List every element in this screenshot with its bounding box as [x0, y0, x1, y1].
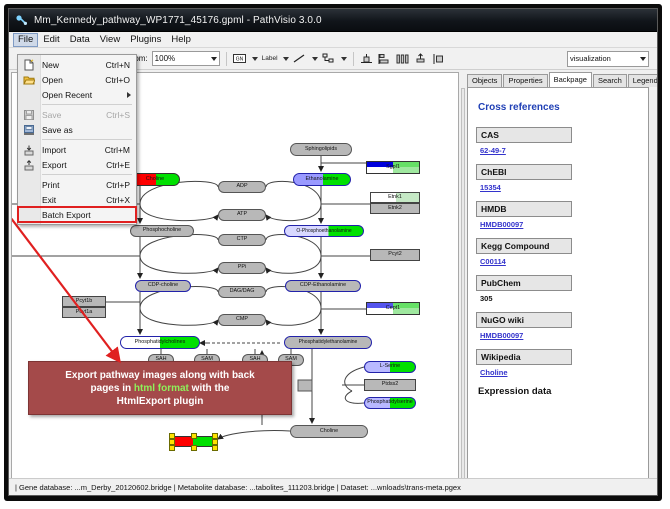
menu-data[interactable]: Data	[65, 33, 95, 47]
node-label: ATP	[237, 212, 247, 217]
align-left-icon[interactable]	[378, 52, 392, 66]
datanode-dropdown-icon[interactable]	[252, 57, 258, 61]
pathvisio-window: Mm_Kennedy_pathway_WP1771_45176.gpml - P…	[8, 8, 658, 496]
node-label: PPi	[238, 265, 246, 270]
interaction-dropdown-icon[interactable]	[341, 57, 347, 61]
line-icon[interactable]	[293, 52, 307, 66]
screenshot-root: Mm_Kennedy_pathway_WP1771_45176.gpml - P…	[0, 0, 670, 509]
chevron-down-icon-2	[640, 57, 646, 61]
node-ethanolamine[interactable]: Ethanolamine	[293, 173, 351, 186]
cross-references-heading: Cross references	[478, 102, 640, 113]
sidebar-scroll-track[interactable]	[461, 88, 465, 496]
node-sphingolipids[interactable]: Sphingolipids	[290, 143, 352, 156]
node-sgpl1[interactable]: Sgpl1	[366, 161, 420, 174]
zoom-value: 100%	[155, 54, 175, 63]
chevron-down-icon	[211, 57, 217, 61]
save-disk-icon	[22, 108, 35, 121]
node-atp[interactable]: ATP	[218, 209, 266, 221]
menu-file[interactable]: File	[13, 33, 38, 47]
xref-chebi-value[interactable]: 15354	[480, 183, 640, 192]
toolbar-separator	[226, 52, 227, 66]
menu-item-exit[interactable]: Exit Ctrl+X	[18, 192, 136, 207]
node-adp[interactable]: ADP	[218, 181, 266, 193]
menu-item-batch-export[interactable]: Batch Export	[18, 207, 136, 222]
xref-wikipedia-label: Wikipedia	[476, 349, 572, 365]
status-bar: | Gene database: ...m_Derby_20120602.bri…	[9, 478, 657, 495]
node-cept1[interactable]: Cept1	[366, 302, 420, 315]
node-label: DAG/DAG	[230, 289, 255, 294]
xref-pubchem-value: 305	[480, 294, 640, 303]
open-folder-icon	[22, 73, 35, 86]
node-label: Phosphatidylcholines	[135, 340, 186, 345]
label-dropdown-icon[interactable]	[283, 57, 289, 61]
node-label: ADP	[236, 184, 247, 189]
menu-help[interactable]: Help	[166, 33, 196, 47]
menu-edit[interactable]: Edit	[38, 33, 64, 47]
callout-line1: Export pathway images along with back	[65, 370, 255, 381]
node-label: L-Serine	[380, 364, 400, 369]
file-menu-dropdown[interactable]: New Ctrl+N Open Ctrl+O Open Recent Save	[17, 54, 137, 225]
node-ctp[interactable]: CTP	[218, 234, 266, 246]
node-label: Cept1	[386, 306, 400, 311]
xref-wikipedia-value[interactable]: Choline	[480, 368, 640, 377]
node-phosphocholine[interactable]: Phosphocholine	[130, 225, 194, 237]
menu-label: Save	[42, 110, 106, 120]
menu-item-print[interactable]: Print Ctrl+P	[18, 177, 136, 192]
save-as-icon	[22, 123, 35, 136]
datanode-icon[interactable]: GN	[233, 52, 247, 66]
node-label: CTP	[237, 237, 248, 242]
selection-handle-sw[interactable]	[169, 445, 175, 451]
menu-bar[interactable]: File Edit Data View Plugins Help	[9, 32, 657, 48]
menu-plugins[interactable]: Plugins	[125, 33, 166, 47]
node-pcyt1a[interactable]: Pcyt1a	[62, 307, 106, 318]
node-phosphatidylethanolamine[interactable]: Phosphatidylethanolamine	[284, 336, 372, 349]
xref-link[interactable]: HMDB00097	[480, 331, 523, 340]
pathvisio-icon	[15, 14, 28, 27]
xref-hmdb-label: HMDB	[476, 201, 572, 217]
new-file-icon	[22, 58, 35, 71]
selection-handle-n[interactable]	[191, 433, 197, 439]
window-title: Mm_Kennedy_pathway_WP1771_45176.gpml - P…	[34, 15, 322, 26]
node-cmp[interactable]: CMP	[218, 314, 266, 326]
menu-label: Open Recent	[42, 90, 136, 100]
node-pcyt2[interactable]: Pcyt2	[370, 249, 420, 261]
import-icon	[22, 143, 35, 156]
node-o-phosphoethanolamine[interactable]: O-Phosphoethanolamine	[284, 225, 364, 237]
menu-label: Import	[42, 145, 105, 155]
visualization-value: visualization	[570, 54, 611, 63]
label-icon[interactable]: Label	[262, 55, 278, 62]
menu-label: Exit	[42, 195, 106, 205]
menu-accel: Ctrl+P	[106, 180, 136, 190]
xref-nugo-value[interactable]: HMDB00097	[480, 331, 640, 340]
selection-handle-se[interactable]	[212, 445, 218, 451]
menu-item-import[interactable]: Import Ctrl+M	[18, 142, 136, 157]
xref-cas-value[interactable]: 62-49-7	[480, 146, 640, 155]
export-icon	[22, 158, 35, 171]
node-label: Phosphatidylserine	[367, 400, 413, 405]
xref-link[interactable]: 15354	[480, 183, 501, 192]
node-l-serine[interactable]: L-Serine	[364, 361, 416, 373]
node-label: CDP-choline	[148, 283, 178, 288]
menu-accel: Ctrl+E	[106, 160, 136, 170]
xref-kegg-value[interactable]: C00114	[480, 257, 640, 266]
sidebar-tabs[interactable]: Objects Properties Backpage Search Legen…	[459, 72, 655, 87]
callout-line2-b: with the	[189, 383, 230, 394]
menu-label: Export	[42, 160, 106, 170]
xref-hmdb-value[interactable]: HMDB00097	[480, 220, 640, 229]
xref-link[interactable]: HMDB00097	[480, 220, 523, 229]
node-label: Etnk2	[388, 206, 402, 211]
menu-separator-2	[42, 139, 132, 140]
selection-handle-s[interactable]	[191, 445, 197, 451]
menu-label: New	[42, 60, 106, 70]
node-label: Sgpl1	[386, 165, 400, 170]
xref-kegg-label: Kegg Compound	[476, 238, 572, 254]
submenu-arrow-icon	[127, 92, 131, 98]
node-choline[interactable]: Choline	[130, 173, 180, 186]
toolbar-separator-2	[353, 52, 354, 66]
menu-item-open[interactable]: Open Ctrl+O	[18, 72, 136, 87]
distribute-h-icon[interactable]	[396, 52, 410, 66]
menu-accel: Ctrl+X	[106, 195, 136, 205]
node-label: Sphingolipids	[305, 147, 337, 152]
menu-item-export[interactable]: Export Ctrl+E	[18, 157, 136, 172]
visualization-combo[interactable]: visualization	[567, 51, 649, 67]
align-top-icon[interactable]	[360, 52, 374, 66]
node-label: Phosphatidylethanolamine	[299, 340, 358, 345]
xref-chebi-label: ChEBI	[476, 164, 572, 180]
node-label: Pcyt2	[388, 252, 401, 257]
xref-cas-label: CAS	[476, 127, 572, 143]
menu-item-new[interactable]: New Ctrl+N	[18, 57, 136, 72]
node-cdp-ethanolamine[interactable]: CDP-Ethanolamine	[285, 280, 361, 292]
xref-link[interactable]: C00114	[480, 257, 506, 266]
callout-line3: HtmlExport plugin	[117, 396, 204, 407]
node-label: Ethanolamine	[306, 177, 339, 182]
menu-item-open-recent[interactable]: Open Recent	[18, 87, 136, 102]
node-ppi[interactable]: PPi	[218, 262, 266, 274]
tab-properties[interactable]: Properties	[503, 74, 547, 87]
interaction-icon[interactable]	[322, 52, 336, 66]
node-label: Phosphocholine	[143, 228, 181, 233]
menu-label: Print	[42, 180, 106, 190]
callout-line2-a: pages in	[91, 383, 134, 394]
menu-item-save-as[interactable]: Save as	[18, 122, 136, 137]
zoom-combo[interactable]: 100%	[152, 51, 220, 66]
xref-nugo-label: NuGO wiki	[476, 312, 572, 328]
node-dag[interactable]: DAG/DAG	[218, 286, 266, 298]
tab-objects[interactable]: Objects	[467, 74, 502, 87]
node-label: Choline	[146, 177, 164, 182]
xref-pubchem-label: PubChem	[476, 275, 572, 291]
node-etnk2[interactable]: Etnk2	[370, 203, 420, 214]
node-label: Choline	[320, 429, 338, 434]
menu-accel: Ctrl+N	[106, 60, 136, 70]
distribute-v-icon[interactable]	[414, 52, 428, 66]
menu-accel: Ctrl+M	[105, 145, 136, 155]
menu-accel: Ctrl+S	[106, 110, 136, 120]
tab-search[interactable]: Search	[593, 74, 627, 87]
node-label: Pcyt1b	[76, 299, 92, 304]
same-size-icon[interactable]	[432, 52, 446, 66]
xref-link[interactable]: Choline	[480, 368, 508, 377]
menu-label: Batch Export	[42, 210, 136, 220]
expression-data-heading: Expression data	[478, 386, 640, 397]
callout-highlight: html format	[134, 383, 189, 394]
menu-label: Open	[42, 75, 105, 85]
menu-accel: Ctrl+O	[105, 75, 136, 85]
annotation-callout: Export pathway images along with back pa…	[28, 361, 292, 415]
menu-separator-3	[42, 174, 132, 175]
node-label: CMP	[236, 317, 248, 322]
node-label: O-Phosphoethanolamine	[296, 229, 351, 234]
menu-view[interactable]: View	[95, 33, 125, 47]
node-etnk1[interactable]: Etnk1	[370, 192, 420, 203]
node-ptdss2[interactable]: Ptdss2	[364, 379, 416, 391]
svg-text:GN: GN	[236, 57, 244, 63]
node-label: CDP-Ethanolamine	[300, 283, 346, 288]
sidebar-panel: Objects Properties Backpage Search Legen…	[459, 72, 655, 496]
node-label: Etnk1	[388, 195, 402, 200]
node-label: Ptdss2	[382, 382, 398, 387]
line-dropdown-icon[interactable]	[312, 57, 318, 61]
callout-text: Export pathway images along with back pa…	[59, 369, 261, 408]
menu-separator-1	[42, 104, 132, 105]
tab-legend[interactable]: Legend	[628, 74, 658, 87]
tab-backpage[interactable]: Backpage	[549, 72, 592, 87]
xref-link[interactable]: 62-49-7	[480, 146, 506, 155]
menu-label: Save as	[42, 125, 130, 135]
node-phosphatidylcholines[interactable]: Phosphatidylcholines	[120, 336, 200, 349]
title-bar: Mm_Kennedy_pathway_WP1771_45176.gpml - P…	[9, 9, 657, 32]
status-text: | Gene database: ...m_Derby_20120602.bri…	[9, 483, 461, 492]
node-ethanolamine-2[interactable]: Phosphatidylserine	[364, 397, 416, 409]
node-label: Pcyt1a	[76, 310, 92, 315]
backpage-content: Cross references CAS 62-49-7 ChEBI 15354…	[467, 87, 649, 496]
node-pcyt1b[interactable]: Pcyt1b	[62, 296, 106, 307]
menu-item-save[interactable]: Save Ctrl+S	[18, 107, 136, 122]
node-phosphatidylserine[interactable]: Choline	[290, 425, 368, 438]
node-cdp-choline[interactable]: CDP-choline	[135, 280, 191, 292]
